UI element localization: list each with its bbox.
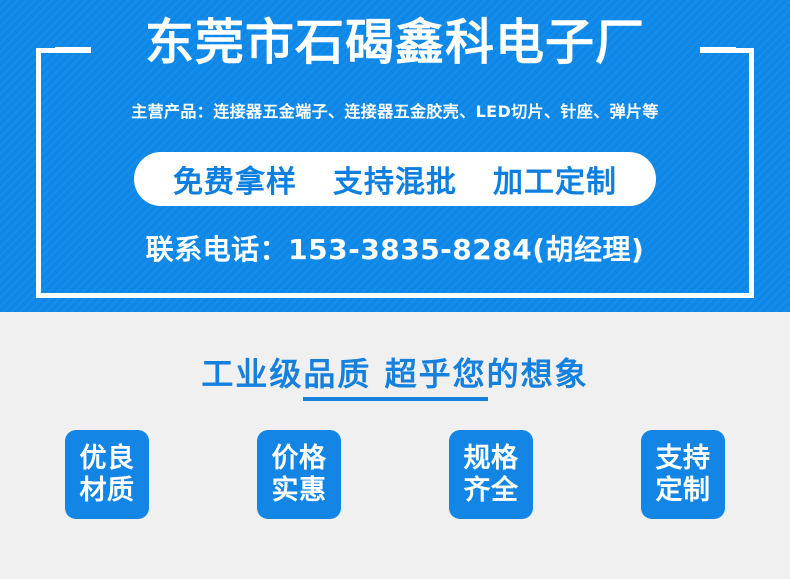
promo-banner-page: 东莞市石碣鑫科电子厂 主营产品：连接器五金端子、连接器五金胶壳、LED切片、针座… (0, 0, 790, 579)
contact-phone: 联系电话：153-3835-8284(胡经理) (0, 228, 790, 268)
feature-box-3: 规格 齐全 (449, 430, 533, 519)
feature-box-4: 支持 定制 (641, 430, 725, 519)
product-subtitle: 主营产品：连接器五金端子、连接器五金胶壳、LED切片、针座、弹片等 (0, 98, 790, 122)
feature-box-1: 优良 材质 (65, 430, 149, 519)
feature-box-3-line1: 规格 (464, 443, 519, 475)
service-pill: 免费拿样 支持混批 加工定制 (134, 152, 656, 206)
company-title: 东莞市石碣鑫科电子厂 (0, 17, 790, 70)
features-headline: 工业级品质 超乎您的想象 (0, 349, 790, 395)
feature-box-3-line2: 齐全 (464, 475, 519, 507)
feature-box-1-line1: 优良 (80, 443, 135, 475)
feature-box-2-line2: 实惠 (272, 475, 327, 507)
feature-box-2: 价格 实惠 (257, 430, 341, 519)
service-pill-item-1: 免费拿样 (173, 157, 297, 201)
feature-box-2-line1: 价格 (272, 443, 327, 475)
feature-box-row: 优良 材质 价格 实惠 规格 齐全 支持 定制 (0, 430, 790, 520)
service-pill-item-2: 支持混批 (333, 157, 457, 201)
feature-box-4-line1: 支持 (656, 443, 711, 475)
service-pill-item-3: 加工定制 (493, 157, 617, 201)
features-section: 工业级品质 超乎您的想象 优良 材质 价格 实惠 规格 齐全 支持 定制 (0, 312, 790, 579)
header-banner: 东莞市石碣鑫科电子厂 主营产品：连接器五金端子、连接器五金胶壳、LED切片、针座… (0, 0, 790, 312)
headline-underline (303, 397, 488, 401)
frame-bottom-rail (36, 293, 754, 298)
feature-box-1-line2: 材质 (80, 475, 135, 507)
feature-box-4-line2: 定制 (656, 475, 711, 507)
